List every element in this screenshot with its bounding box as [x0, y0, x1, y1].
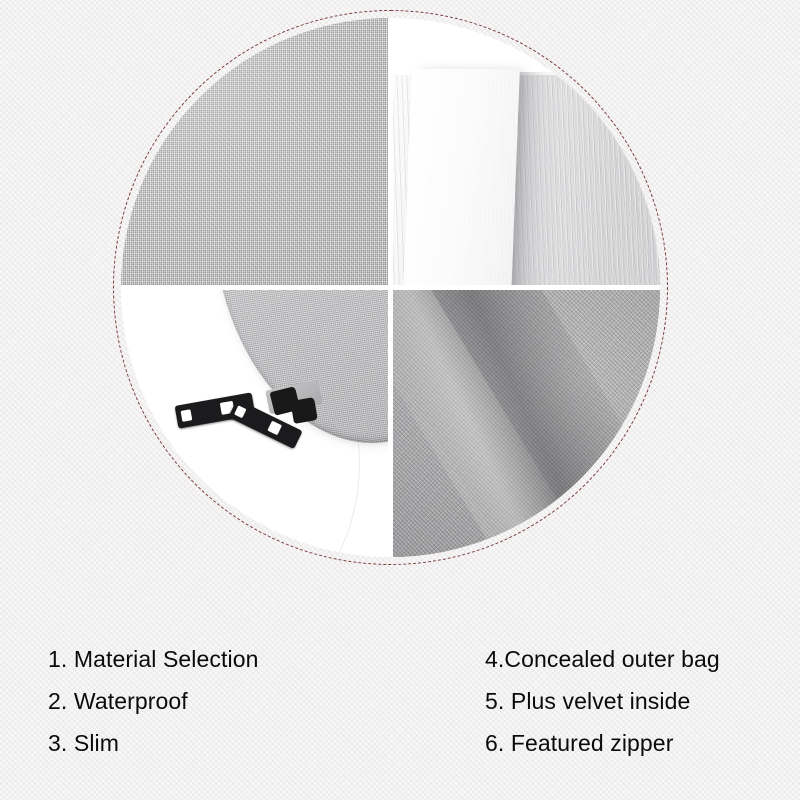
quadrant-white-fleece-lining[interactable] [391, 18, 661, 288]
woven-fabric-texture [121, 18, 391, 288]
quadrant-folded-fabric-crease[interactable] [391, 288, 661, 558]
feature-item-4: 4.Concealed outer bag [485, 638, 720, 680]
feature-column-right: 4.Concealed outer bag 5. Plus velvet ins… [485, 638, 720, 764]
quadrant-collage [121, 18, 660, 557]
zipper-pull-hole [267, 421, 282, 435]
zipper-pull-hole [234, 406, 246, 418]
quadrant-divider-horizontal [121, 285, 660, 290]
zipper-pull-hole [180, 410, 192, 423]
quadrant-zipper-pulls-detail[interactable] [121, 288, 391, 558]
fleece-folded-flap [402, 69, 520, 287]
feature-item-6: 6. Featured zipper [485, 722, 720, 764]
feature-item-5: 5. Plus velvet inside [485, 680, 720, 722]
quadrant-fabric-weave-closeup[interactable] [121, 18, 391, 288]
feature-item-1: 1. Material Selection [48, 638, 258, 680]
hero-circle-collage [0, 0, 800, 600]
circle-stage [113, 10, 668, 565]
fabric-vignette [391, 288, 661, 558]
feature-list: 1. Material Selection 2. Waterproof 3. S… [0, 600, 800, 800]
feature-item-2: 2. Waterproof [48, 680, 258, 722]
feature-item-3: 3. Slim [48, 722, 258, 764]
zipper-slider-lower [290, 397, 318, 423]
feature-column-left: 1. Material Selection 2. Waterproof 3. S… [48, 638, 258, 764]
